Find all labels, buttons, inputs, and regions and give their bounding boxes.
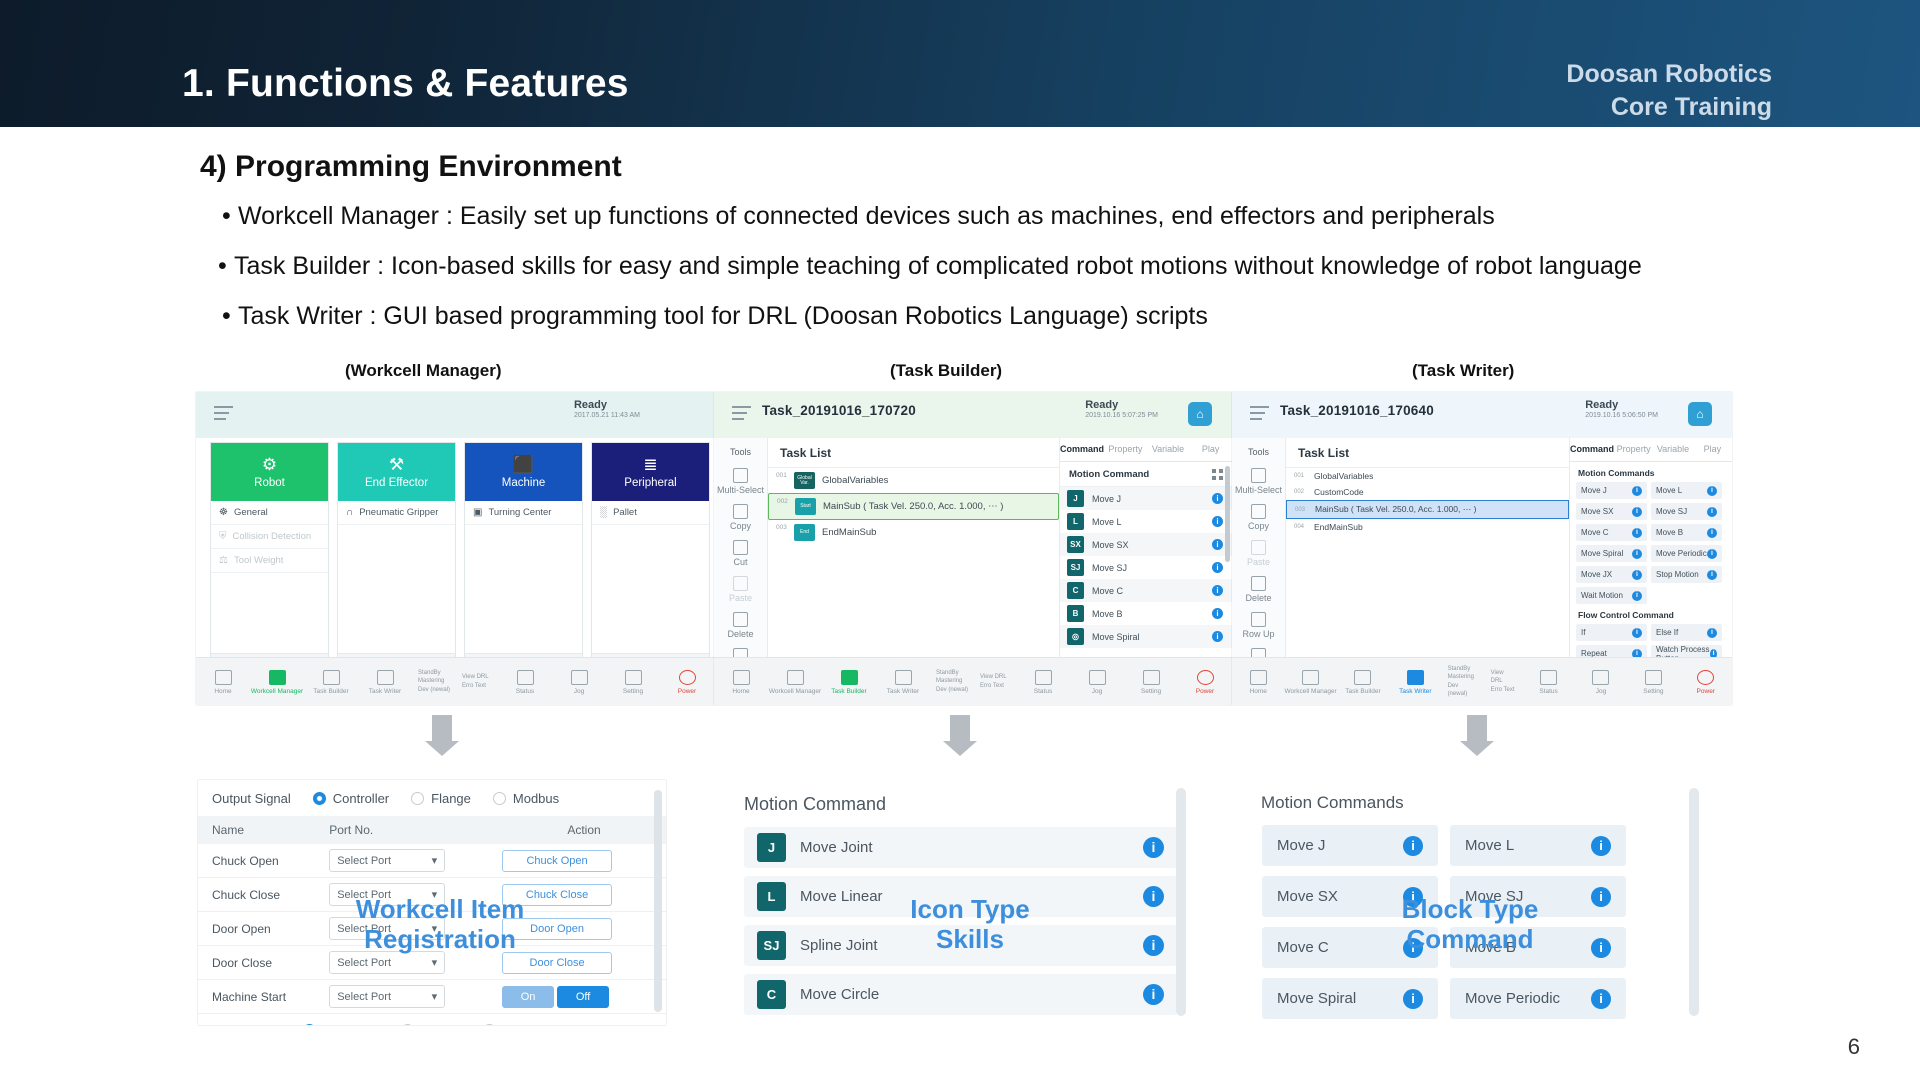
list-item[interactable]: ░ Pallet [592, 501, 709, 525]
info-icon[interactable]: i [1143, 984, 1164, 1005]
row-label: EndMainSub [822, 527, 876, 538]
multi-select-icon [733, 468, 748, 483]
command-row[interactable]: J Move J i [1060, 487, 1232, 510]
home-icon [1250, 670, 1267, 685]
info-icon[interactable]: i [1632, 528, 1642, 538]
command-button[interactable]: Move J i [1576, 482, 1647, 499]
block-command-label: Move Periodic [1465, 990, 1560, 1007]
info-icon[interactable]: i [1591, 989, 1611, 1009]
command-row[interactable]: ◎ Move Spiral i [1060, 625, 1232, 648]
machine-icon: ⬛ [513, 456, 534, 474]
row-number: 003 [776, 524, 794, 531]
jog-icon [1592, 670, 1609, 685]
task-row[interactable]: 003 MainSub ( Task Vel. 250.0, Acc. 1.00… [1286, 500, 1569, 519]
motion-command-label: Move Circle [800, 986, 1129, 1003]
block-command-button[interactable]: Move Periodic i [1450, 978, 1626, 1019]
nav-home[interactable]: Home [714, 668, 768, 695]
command-button[interactable]: Stop Motion i [1651, 566, 1722, 583]
nav-task-writer[interactable]: Task Writer [1389, 668, 1441, 695]
brand-block: Doosan Robotics Core Training [1566, 58, 1772, 124]
info-icon[interactable]: i [1591, 887, 1611, 907]
grid-view-icon[interactable] [1212, 469, 1223, 480]
task-writer-icon [895, 670, 912, 685]
info-icon[interactable]: i [1632, 549, 1642, 559]
info-icon[interactable]: i [1143, 837, 1164, 858]
chevron-down-icon: ▾ [432, 956, 438, 969]
nav-label: Workcell Manager [1284, 688, 1336, 695]
column-header: Name [198, 816, 329, 844]
nav-label: Status [516, 688, 534, 695]
caption-task-builder: (Task Builder) [890, 361, 1002, 381]
tool-multi-select[interactable]: Multi-Select [1232, 463, 1285, 499]
task-builder-icon [1354, 670, 1371, 685]
card-item-list: ░ Pallet [592, 501, 709, 653]
command-label: Move B [1656, 528, 1683, 537]
block-command-button[interactable]: Move Spiral i [1262, 978, 1438, 1019]
row-number: 001 [776, 472, 794, 479]
card-title: Robot [254, 477, 285, 489]
signal-name: Door Close [198, 946, 329, 980]
tool-label: Row Up [1242, 629, 1274, 639]
block-command-label: Move Spiral [1277, 990, 1356, 1007]
builder-body: Tools Multi-Select Copy Cut Paste Delete… [714, 438, 1232, 657]
tab-play[interactable]: Play [1189, 438, 1232, 461]
workcell-card-machine[interactable]: ⬛ Machine ▣ Turning Center + [464, 442, 583, 680]
workcell-card-peripheral[interactable]: ≣ Peripheral ░ Pallet + [591, 442, 710, 680]
card-title: Peripheral [624, 477, 676, 489]
radio-flange[interactable]: Flange [411, 791, 471, 806]
annotation-writer: Block Type Command [1360, 895, 1580, 955]
info-icon[interactable]: i [1707, 570, 1717, 580]
port-value: Select Port [337, 855, 391, 867]
tool-copy[interactable]: Copy [1232, 499, 1285, 535]
radio-circle [493, 792, 506, 805]
nav-label: Status [1034, 688, 1052, 695]
info-icon[interactable]: i [1707, 507, 1717, 517]
motion-command-label: Move Joint [800, 839, 1129, 856]
info-icon[interactable]: i [1212, 516, 1223, 527]
row-label: MainSub ( Task Vel. 250.0, Acc. 1.000, ⋯… [1315, 504, 1476, 515]
row-number: 004 [1294, 524, 1314, 530]
row-number: 002 [1294, 489, 1314, 495]
row-chip: Start [795, 498, 816, 515]
task-name-label: Task_20191016_170640 [1280, 403, 1434, 418]
command-button[interactable]: If i [1576, 624, 1647, 641]
action-cell: On Off [502, 980, 666, 1014]
block-command-button[interactable]: Move L i [1450, 825, 1626, 866]
radio-modbus[interactable]: Modbus [493, 791, 559, 806]
tool-row-up[interactable]: Row Up [1232, 607, 1285, 643]
row-chip: Global Var. [794, 472, 815, 489]
nav-setting[interactable]: Setting [606, 668, 660, 695]
nav-power[interactable]: Power [660, 668, 714, 695]
command-label: Move SJ [1092, 563, 1204, 573]
command-label: Move L [1092, 517, 1204, 527]
command-label: Move J [1092, 494, 1204, 504]
task-row[interactable]: 004 EndMainSub [1286, 519, 1569, 535]
nav-label: Task Builder [313, 688, 348, 695]
command-label: Move C [1092, 586, 1204, 596]
list-item[interactable]: ⛨ Collision Detection [211, 525, 328, 549]
signal-name: Door Open [198, 912, 329, 946]
motion-button-grid: Move J i Move L i Move SX i Move SJ i Mo… [1570, 482, 1732, 604]
detail-scrollbar[interactable] [1689, 788, 1699, 1016]
task-row[interactable]: 001 Global Var. GlobalVariables [768, 468, 1059, 493]
command-row[interactable]: L Move L i [1060, 510, 1232, 533]
command-label: Move SX [1092, 540, 1204, 550]
jog-icon [1089, 670, 1106, 685]
task-writer-icon [377, 670, 394, 685]
tab-variable[interactable]: Variable [1147, 438, 1190, 461]
nav-label: Workcell Manager [769, 688, 821, 695]
status-block: Ready 2017.05.21 11:43 AM [574, 399, 640, 420]
nav-label: Workcell Manager [251, 688, 303, 695]
bullet-text: Task Builder : Icon-based skills for eas… [234, 252, 1642, 280]
info-icon[interactable]: i [1212, 562, 1223, 573]
detail-scrollbar[interactable] [1176, 788, 1186, 1016]
nav-task-builder[interactable]: Task Builder [1337, 668, 1389, 695]
port-cell: Select Port ▾ [329, 844, 502, 878]
nav-label: Home [214, 688, 231, 695]
tab-command[interactable]: Command [1060, 438, 1104, 461]
builder-topbar: Task_20191016_170720 Ready 2019.10.16 5:… [714, 392, 1232, 438]
command-button[interactable]: Move SX i [1576, 503, 1647, 520]
radio-controller[interactable]: Controller [303, 1023, 379, 1025]
nav-task-builder[interactable]: Task Builder [304, 668, 358, 695]
task-row[interactable]: 002 CustomCode [1286, 484, 1569, 500]
workcell-icon [1302, 670, 1319, 685]
builder-navbar: Home Workcell Manager Task Builder Task … [714, 657, 1232, 705]
move-l-icon: L [757, 882, 786, 911]
motion-command-row[interactable]: J Move Joint i [744, 827, 1177, 868]
radio-modbus[interactable]: Modbus [483, 1023, 549, 1025]
screenshot-task-writer: Task_20191016_170640 Ready 2019.10.16 5:… [1232, 392, 1732, 705]
task-list-header: Task List [1286, 438, 1569, 468]
info-icon[interactable]: i [1143, 886, 1164, 907]
bullet-workcell-manager: •Workcell Manager : Easily set up functi… [222, 202, 1495, 231]
screenshot-task-builder: Task_20191016_170720 Ready 2019.10.16 5:… [714, 392, 1232, 705]
screenshot-workcell-manager: Ready 2017.05.21 11:43 AM ⚙ Robot ☸ Gene… [196, 392, 714, 705]
list-item[interactable]: ⚖ Tool Weight [211, 549, 328, 573]
info-icon[interactable]: i [1403, 989, 1423, 1009]
info-icon[interactable]: i [1707, 528, 1717, 538]
info-icon[interactable]: i [1632, 591, 1642, 601]
tool-label: Paste [1247, 557, 1270, 567]
nav-label: Status [1539, 688, 1557, 695]
tool-delete[interactable]: Delete [714, 607, 767, 643]
caption-task-writer: (Task Writer) [1412, 361, 1514, 381]
list-item[interactable]: ☸ General [211, 501, 328, 525]
menu-icon[interactable] [1250, 406, 1269, 424]
nav-power[interactable]: Power [1680, 668, 1732, 695]
task-row[interactable]: 003 End EndMainSub [768, 520, 1059, 545]
nav-label: Jog [1596, 688, 1606, 695]
list-item[interactable]: ∩ Pneumatic Gripper [338, 501, 455, 525]
tool-label: Multi-Select [1235, 485, 1282, 495]
builder-tools-column: Tools Multi-Select Copy Cut Paste Delete… [714, 438, 768, 657]
off-button[interactable]: Off [557, 986, 609, 1008]
brand-line-2: Core Training [1566, 91, 1772, 124]
status-timestamp: 2019.10.16 5:06:50 PM [1585, 412, 1658, 420]
page-number: 6 [1848, 1034, 1860, 1060]
info-icon[interactable]: i [1707, 486, 1717, 496]
tools-header: Tools [1232, 442, 1285, 463]
bullet-marker: • [218, 252, 234, 281]
tool-cut[interactable]: Cut [714, 535, 767, 571]
command-label: Stop Motion [1656, 570, 1699, 579]
command-label: Move Periodic [1656, 549, 1707, 558]
nav-label: Setting [1141, 688, 1161, 695]
block-command-label: Move L [1465, 837, 1514, 854]
port-select[interactable]: Select Port ▾ [329, 849, 445, 872]
command-button[interactable]: Move SJ i [1651, 503, 1722, 520]
bullet-marker: • [222, 302, 238, 331]
radio-label: Flange [431, 791, 471, 806]
chevron-down-icon: ▾ [432, 854, 438, 867]
info-icon[interactable]: i [1632, 507, 1642, 517]
task-list-header: Task List [768, 438, 1059, 468]
command-label: Move Spiral [1092, 632, 1204, 642]
nav-label: Jog [1092, 688, 1102, 695]
nav-power[interactable]: Power [1178, 668, 1232, 695]
trash-icon [733, 612, 748, 627]
home-status-icon[interactable]: ⌂ [1688, 402, 1712, 426]
menu-icon[interactable] [214, 406, 233, 424]
tool-label: Copy [1248, 521, 1269, 531]
command-row[interactable]: SX Move SX i [1060, 533, 1232, 556]
tool-delete[interactable]: Delete [1232, 571, 1285, 607]
nav-task-builder[interactable]: Task Builder [822, 668, 876, 695]
peripheral-icon: ≣ [643, 456, 657, 474]
command-row[interactable]: SJ Move SJ i [1060, 556, 1232, 579]
nav-label: Task Builder [1345, 688, 1380, 695]
on-button[interactable]: On [502, 986, 554, 1008]
list-item[interactable]: ▣ Turning Center [465, 501, 582, 525]
list-item-label: Turning Center [488, 507, 551, 518]
command-label: Move JX [1581, 570, 1612, 579]
on-off-toggle[interactable]: On Off [502, 986, 666, 1008]
nav-jog[interactable]: Jog [552, 668, 606, 695]
workcell-icon [787, 670, 804, 685]
nav-task-writer[interactable]: Task Writer [876, 668, 930, 695]
nav-workcell-manager[interactable]: Workcell Manager [768, 668, 822, 695]
motion-command-row[interactable]: C Move Circle i [744, 974, 1177, 1015]
home-icon [733, 670, 750, 685]
item-icon: ⛨ [219, 531, 227, 542]
info-icon[interactable]: i [1212, 585, 1223, 596]
nav-status[interactable]: Status [498, 668, 552, 695]
tool-label: Cut [733, 557, 747, 567]
command-button[interactable]: Else If i [1651, 624, 1722, 641]
tool-label: Delete [1245, 593, 1271, 603]
tab-play[interactable]: Play [1693, 438, 1732, 461]
nav-jog[interactable]: Jog [1070, 668, 1124, 695]
move-l-icon: L [1067, 513, 1084, 530]
tab-property[interactable]: Property [1104, 438, 1147, 461]
workcell-navbar: Home Workcell Manager Task Builder Task … [196, 657, 714, 705]
builder-task-list: Task List 001 Global Var. GlobalVariable… [768, 438, 1060, 657]
nav-home[interactable]: Home [196, 668, 250, 695]
block-command-label: Move SX [1277, 888, 1338, 905]
input-signal-row: Input Signal Controller Flange Modbus [198, 1014, 666, 1025]
gear-icon [625, 670, 642, 685]
card-item-list: ▣ Turning Center [465, 501, 582, 653]
cut-icon [733, 540, 748, 555]
info-icon[interactable]: i [1212, 608, 1223, 619]
home-icon [215, 670, 232, 685]
power-icon [679, 670, 696, 685]
status-icon [517, 670, 534, 685]
info-icon[interactable]: i [1591, 836, 1611, 856]
task-writer-icon [1407, 670, 1424, 685]
radio-label: Flange [421, 1023, 461, 1025]
radio-label: Controller [323, 1023, 379, 1025]
tab-property[interactable]: Property [1614, 438, 1653, 461]
tool-multi-select[interactable]: Multi-Select [714, 463, 767, 499]
port-value: Select Port [337, 957, 391, 969]
task-builder-icon [323, 670, 340, 685]
command-label: If [1581, 628, 1585, 637]
info-icon[interactable]: i [1632, 486, 1642, 496]
home-status-icon[interactable]: ⌂ [1188, 402, 1212, 426]
command-label: Move L [1656, 486, 1682, 495]
workcell-card-robot[interactable]: ⚙ Robot ☸ General ⛨ Collision Detection … [210, 442, 329, 680]
list-item-label: Collision Detection [233, 531, 312, 542]
radio-label: Controller [333, 791, 389, 806]
nav-workcell-manager[interactable]: Workcell Manager [250, 668, 304, 695]
move-j-icon: J [757, 833, 786, 862]
status-badge: Ready [574, 399, 640, 412]
task-builder-icon [841, 670, 858, 685]
info-icon[interactable]: i [1212, 631, 1223, 642]
command-button[interactable]: Move C i [1576, 524, 1647, 541]
action-button[interactable]: Door Close [502, 952, 612, 974]
card-title: Machine [502, 477, 545, 489]
status-icon [1035, 670, 1052, 685]
info-icon[interactable]: i [1591, 938, 1611, 958]
command-button[interactable]: Move B i [1651, 524, 1722, 541]
bullet-text: Task Writer : GUI based programming tool… [238, 302, 1208, 330]
list-item-label: General [234, 507, 268, 518]
status-icon [1540, 670, 1557, 685]
info-icon[interactable]: i [1403, 836, 1423, 856]
nav-label: Power [1697, 688, 1715, 695]
workcell-card-end-effector[interactable]: ⚒ End Effector ∩ Pneumatic Gripper + [337, 442, 456, 680]
nav-setting[interactable]: Setting [1627, 668, 1679, 695]
signal-name: Machine Start [198, 980, 329, 1014]
info-icon[interactable]: i [1632, 570, 1642, 580]
info-icon[interactable]: i [1707, 628, 1717, 638]
command-row[interactable]: B Move B i [1060, 602, 1232, 625]
nav-jog[interactable]: Jog [1575, 668, 1627, 695]
radio-circle [483, 1024, 496, 1025]
command-button[interactable]: Move JX i [1576, 566, 1647, 583]
caption-workcell-manager: (Workcell Manager) [345, 361, 502, 381]
writer-task-list: Task List 001 GlobalVariables 002 Custom… [1286, 438, 1570, 657]
detail-scrollbar[interactable] [654, 790, 662, 1012]
list-item-label: Tool Weight [234, 555, 283, 566]
row-label: GlobalVariables [822, 475, 888, 486]
table-row: Chuck Open Select Port ▾ Chuck Open [198, 844, 666, 878]
workcell-topbar: Ready 2017.05.21 11:43 AM [196, 392, 714, 438]
drl-text: View DRLErro Text [974, 673, 1013, 689]
tool-label: Copy [730, 521, 751, 531]
command-scrollbar[interactable] [1225, 466, 1230, 562]
menu-icon[interactable] [732, 406, 751, 424]
tool-paste: Paste [714, 571, 767, 607]
info-icon[interactable]: i [1212, 539, 1223, 550]
nav-label: Task Writer [369, 688, 401, 695]
command-label: Else If [1656, 628, 1678, 637]
command-button[interactable]: Wait Motion i [1576, 587, 1647, 604]
tab-variable[interactable]: Variable [1653, 438, 1692, 461]
block-command-button[interactable]: Move J i [1262, 825, 1438, 866]
task-row[interactable]: 001 GlobalVariables [1286, 468, 1569, 484]
nav-status[interactable]: Status [1522, 668, 1574, 695]
command-row[interactable]: C Move C i [1060, 579, 1232, 602]
command-button[interactable]: Move L i [1651, 482, 1722, 499]
command-label: Move SJ [1656, 507, 1687, 516]
card-item-list: ∩ Pneumatic Gripper [338, 501, 455, 653]
command-button[interactable]: Move Periodic i [1651, 545, 1722, 562]
command-button[interactable]: Move Spiral i [1576, 545, 1647, 562]
row-label: CustomCode [1314, 487, 1364, 497]
nav-home[interactable]: Home [1232, 668, 1284, 695]
tab-command[interactable]: Command [1570, 438, 1614, 461]
nav-label: Task Writer [887, 688, 919, 695]
nav-task-writer[interactable]: Task Writer [358, 668, 412, 695]
card-header: ⬛ Machine [465, 443, 582, 501]
slide-header: 1. Functions & Features Doosan Robotics … [0, 0, 1920, 127]
power-icon [1197, 670, 1214, 685]
flow-section-title: Flow Control Command [1570, 604, 1732, 624]
tool-copy[interactable]: Copy [714, 499, 767, 535]
info-icon[interactable]: i [1143, 935, 1164, 956]
action-button[interactable]: Chuck Open [502, 850, 612, 872]
info-icon[interactable]: i [1212, 493, 1223, 504]
command-section-header: Motion Command [1060, 462, 1232, 487]
nav-label: Power [678, 688, 696, 695]
command-label: Move J [1581, 486, 1607, 495]
info-icon[interactable]: i [1707, 549, 1717, 559]
status-badge: Ready [1085, 399, 1158, 412]
nav-workcell-manager[interactable]: Workcell Manager [1284, 668, 1336, 695]
table-header-row: NamePort No.Action [198, 816, 666, 844]
radio-flange[interactable]: Flange [401, 1023, 461, 1025]
port-select[interactable]: Select Port ▾ [329, 985, 445, 1008]
info-icon[interactable]: i [1632, 628, 1642, 638]
status-badge: Ready [1585, 399, 1658, 412]
power-icon [1697, 670, 1714, 685]
task-name-label: Task_20191016_170720 [762, 403, 916, 418]
chevron-down-icon: ▾ [432, 990, 438, 1003]
annotation-builder: Icon Type Skills [870, 895, 1070, 955]
move-j-icon: J [1067, 490, 1084, 507]
writer-navbar: Home Workcell Manager Task Builder Task … [1232, 657, 1732, 705]
item-icon: ☸ [219, 507, 228, 518]
paste-icon [1251, 540, 1266, 555]
nav-setting[interactable]: Setting [1124, 668, 1178, 695]
item-icon: ░ [600, 507, 607, 518]
command-label: Move C [1581, 528, 1609, 537]
task-row[interactable]: 002 Start MainSub ( Task Vel. 250.0, Acc… [768, 493, 1059, 520]
status-timestamp: 2017.05.21 11:43 AM [574, 412, 640, 420]
nav-status[interactable]: Status [1016, 668, 1070, 695]
row-chip: End [794, 524, 815, 541]
card-item-list: ☸ General ⛨ Collision Detection ⚖ Tool W… [211, 501, 328, 653]
mode-text: StandByMasteringDev (newal) [1442, 665, 1485, 697]
radio-controller[interactable]: Controller [313, 791, 389, 806]
